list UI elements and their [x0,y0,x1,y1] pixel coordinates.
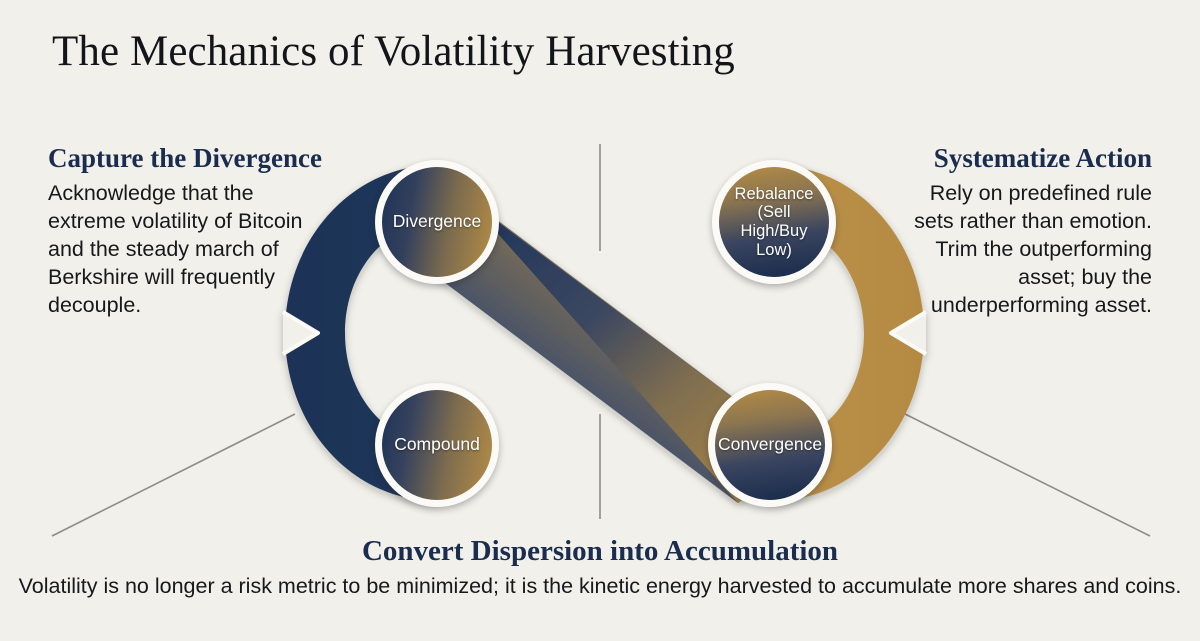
node-convergence[interactable]: Convergence [708,383,832,507]
right-panel: Systematize Action Rely on predefined ru… [890,143,1152,320]
left-panel-heading: Capture the Divergence [48,143,310,174]
node-convergence-label: Convergence [714,435,826,455]
node-compound[interactable]: Compound [375,383,499,507]
infographic-slide: The Mechanics of Volatility Harvesting [0,0,1200,641]
bottom-panel-heading: Convert Dispersion into Accumulation [0,536,1200,568]
node-divergence-label: Divergence [389,212,486,232]
bottom-panel-body: Volatility is no longer a risk metric to… [0,573,1200,600]
left-panel: Capture the Divergence Acknowledge that … [48,143,310,320]
bottom-panel: Convert Dispersion into Accumulation Vol… [0,536,1200,600]
node-rebalance-label: Rebalance (Sell High/Buy Low) [719,185,829,260]
node-compound-label: Compound [390,435,484,455]
right-panel-heading: Systematize Action [888,143,1152,174]
left-panel-body: Acknowledge that the extreme volatility … [48,180,310,320]
divider-diagonal-right [905,414,1150,536]
node-divergence[interactable]: Divergence [375,160,499,284]
right-panel-body: Rely on predefined rule sets rather than… [890,180,1152,320]
divider-diagonal-left [52,414,295,536]
node-rebalance[interactable]: Rebalance (Sell High/Buy Low) [712,160,836,284]
